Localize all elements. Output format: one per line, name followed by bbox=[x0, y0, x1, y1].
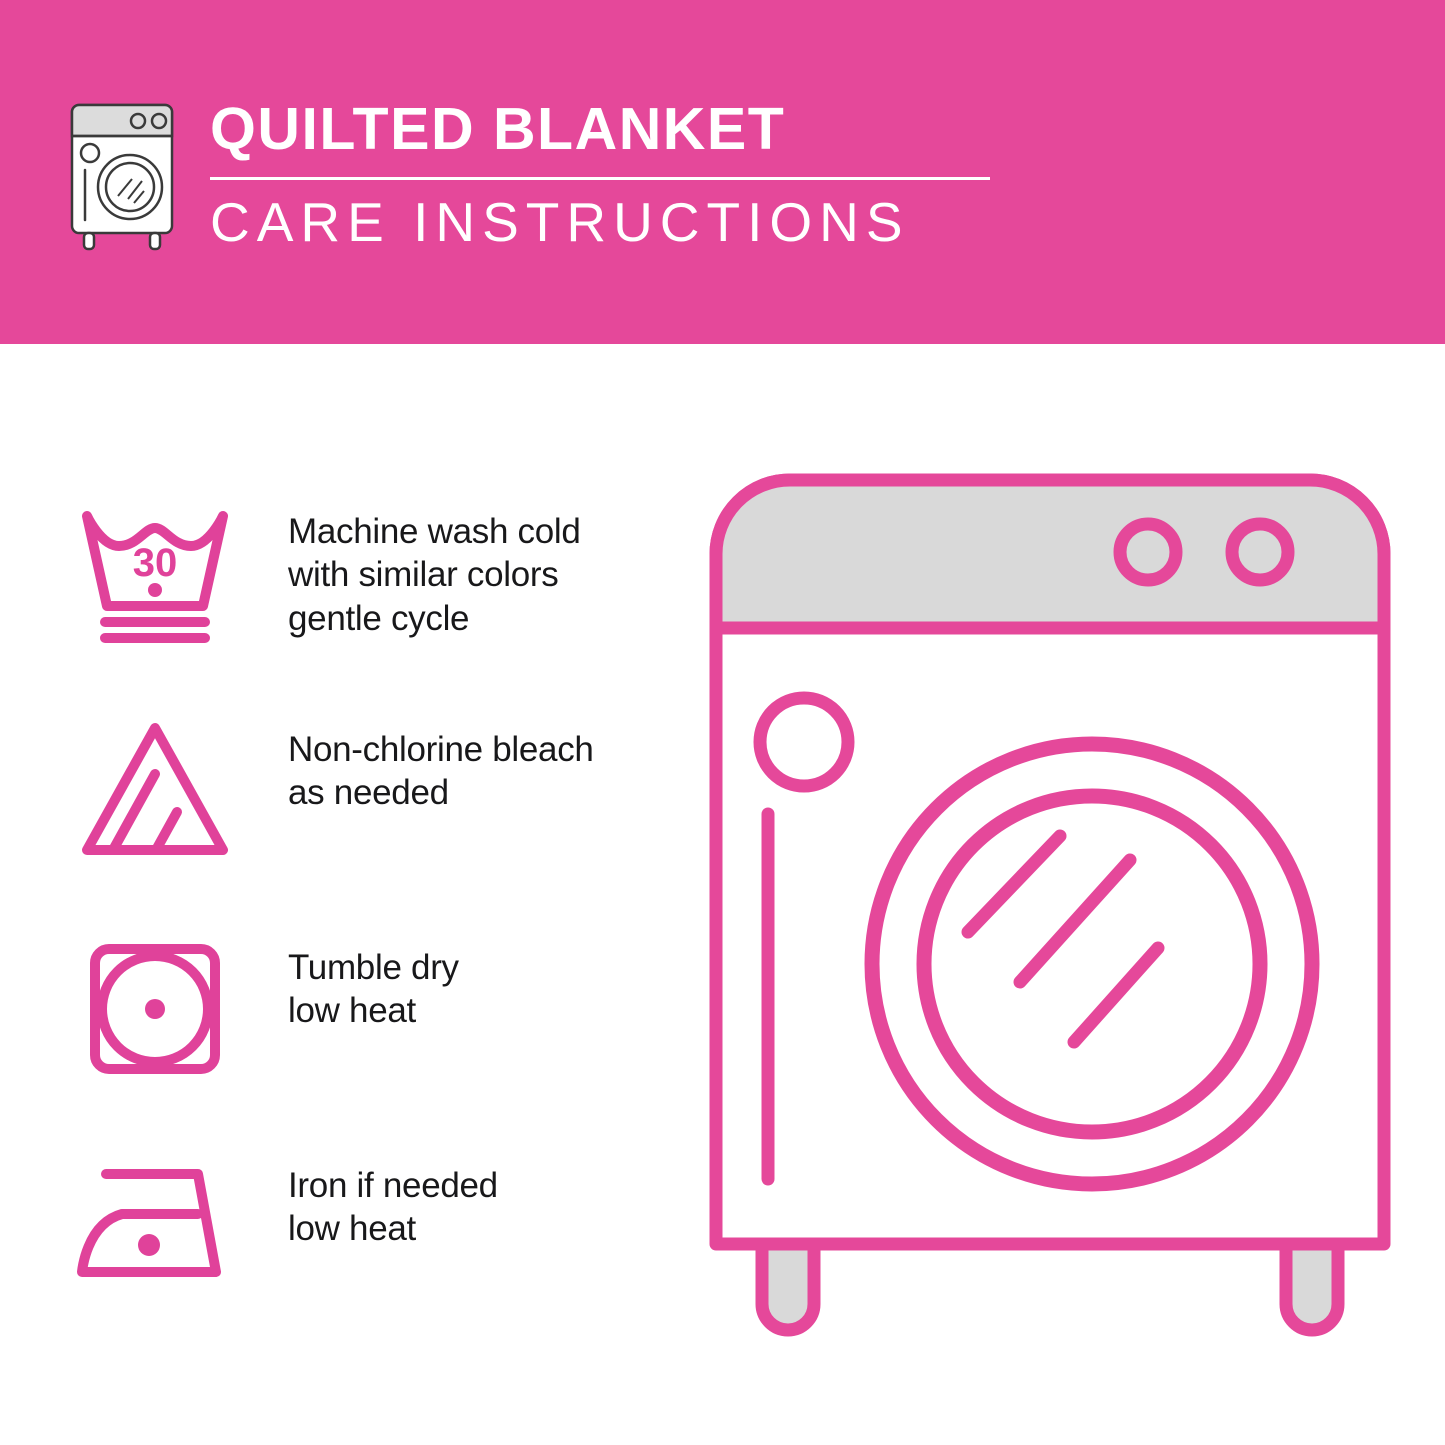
machine-knob bbox=[1120, 524, 1176, 580]
instruction-line: Non-chlorine bleach bbox=[288, 728, 594, 771]
page-title: QUILTED BLANKET bbox=[210, 99, 990, 161]
machine-indicator-light bbox=[760, 698, 848, 786]
care-instruction-text: Non-chlorine bleach as needed bbox=[288, 712, 594, 815]
instruction-line: gentle cycle bbox=[288, 597, 581, 640]
wash-temperature-value: 30 bbox=[133, 541, 178, 585]
care-instruction-text: Tumble dry low heat bbox=[288, 930, 459, 1033]
wash-tub-30-gentle-icon: 30 bbox=[70, 494, 240, 648]
care-instruction-text: Iron if needed low heat bbox=[288, 1148, 498, 1251]
page-header: QUILTED BLANKET CARE INSTRUCTIONS bbox=[0, 0, 1445, 344]
instruction-line: Machine wash cold bbox=[288, 510, 581, 553]
non-chlorine-bleach-triangle-icon bbox=[70, 712, 240, 866]
tumble-dry-low-heat-icon bbox=[70, 930, 240, 1084]
title-divider bbox=[210, 177, 990, 180]
machine-knob bbox=[1232, 524, 1288, 580]
instruction-line: as needed bbox=[288, 771, 594, 814]
instruction-line: with similar colors bbox=[288, 553, 581, 596]
header-title-block: QUILTED BLANKET CARE INSTRUCTIONS bbox=[210, 95, 990, 252]
care-instruction-item: Non-chlorine bleach as needed bbox=[70, 712, 690, 930]
care-instruction-item: 30 Machine wash cold with similar colors… bbox=[70, 494, 690, 712]
care-instruction-item: Iron if needed low heat bbox=[70, 1148, 690, 1366]
front-load-washing-machine-illustration bbox=[700, 464, 1400, 1364]
page-content: 30 Machine wash cold with similar colors… bbox=[0, 344, 1445, 1445]
page-subtitle: CARE INSTRUCTIONS bbox=[210, 194, 990, 252]
care-instruction-item: Tumble dry low heat bbox=[70, 930, 690, 1148]
instruction-line: Tumble dry bbox=[288, 946, 459, 989]
instruction-line: low heat bbox=[288, 1207, 498, 1250]
machine-door-inner bbox=[924, 796, 1260, 1132]
iron-low-heat-icon bbox=[70, 1148, 240, 1292]
care-instruction-text: Machine wash cold with similar colors ge… bbox=[288, 494, 581, 640]
header-content: QUILTED BLANKET CARE INSTRUCTIONS bbox=[58, 95, 990, 255]
instruction-line: Iron if needed bbox=[288, 1164, 498, 1207]
instruction-line: low heat bbox=[288, 989, 459, 1032]
washing-machine-icon bbox=[58, 95, 186, 255]
care-instruction-list: 30 Machine wash cold with similar colors… bbox=[70, 494, 690, 1366]
